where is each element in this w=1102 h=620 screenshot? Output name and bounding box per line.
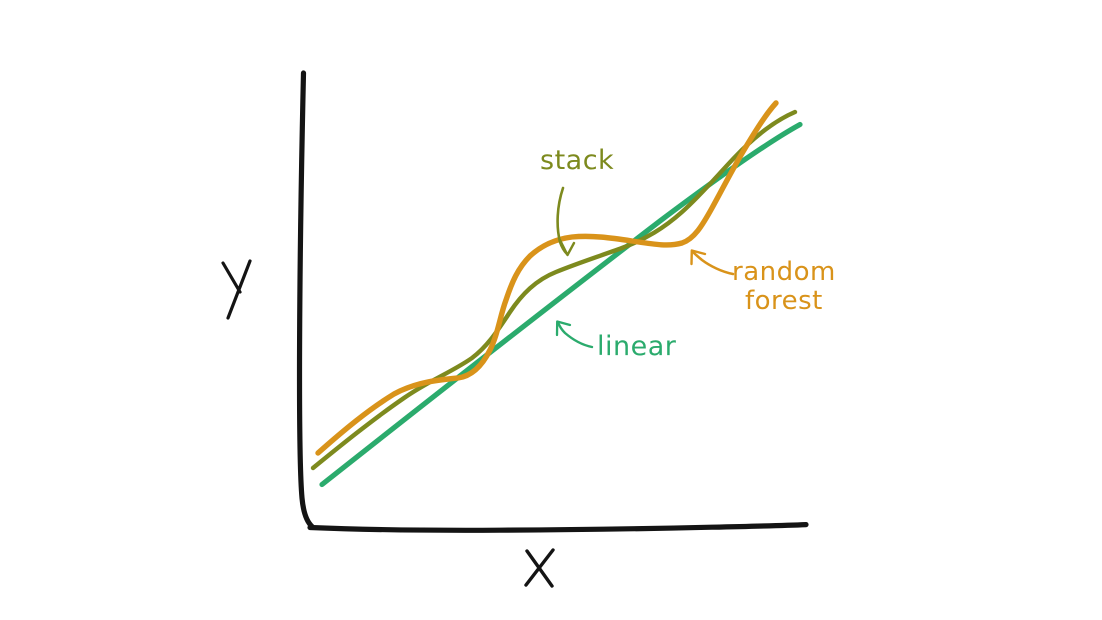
label-linear: linear: [597, 333, 676, 361]
linear-arrow-shaft: [558, 323, 592, 348]
label-stack: stack: [540, 147, 614, 175]
chart-drawing: [0, 0, 1102, 620]
sketch-canvas: stack random forest linear y X: [0, 0, 1102, 620]
random-forest-annotation-arrow: [692, 251, 734, 275]
y-axis-label-glyph: [223, 261, 250, 318]
random-forest-arrow-shaft: [693, 252, 734, 275]
label-random-forest-line1: random: [732, 258, 836, 287]
label-random-forest: random forest: [732, 258, 836, 316]
label-random-forest-line2: forest: [732, 287, 836, 316]
linear-annotation-arrow: [557, 322, 592, 348]
stack-annotation-arrow: [558, 188, 574, 255]
x-axis-label-glyph: [526, 550, 553, 586]
x-axis-line: [310, 525, 806, 531]
